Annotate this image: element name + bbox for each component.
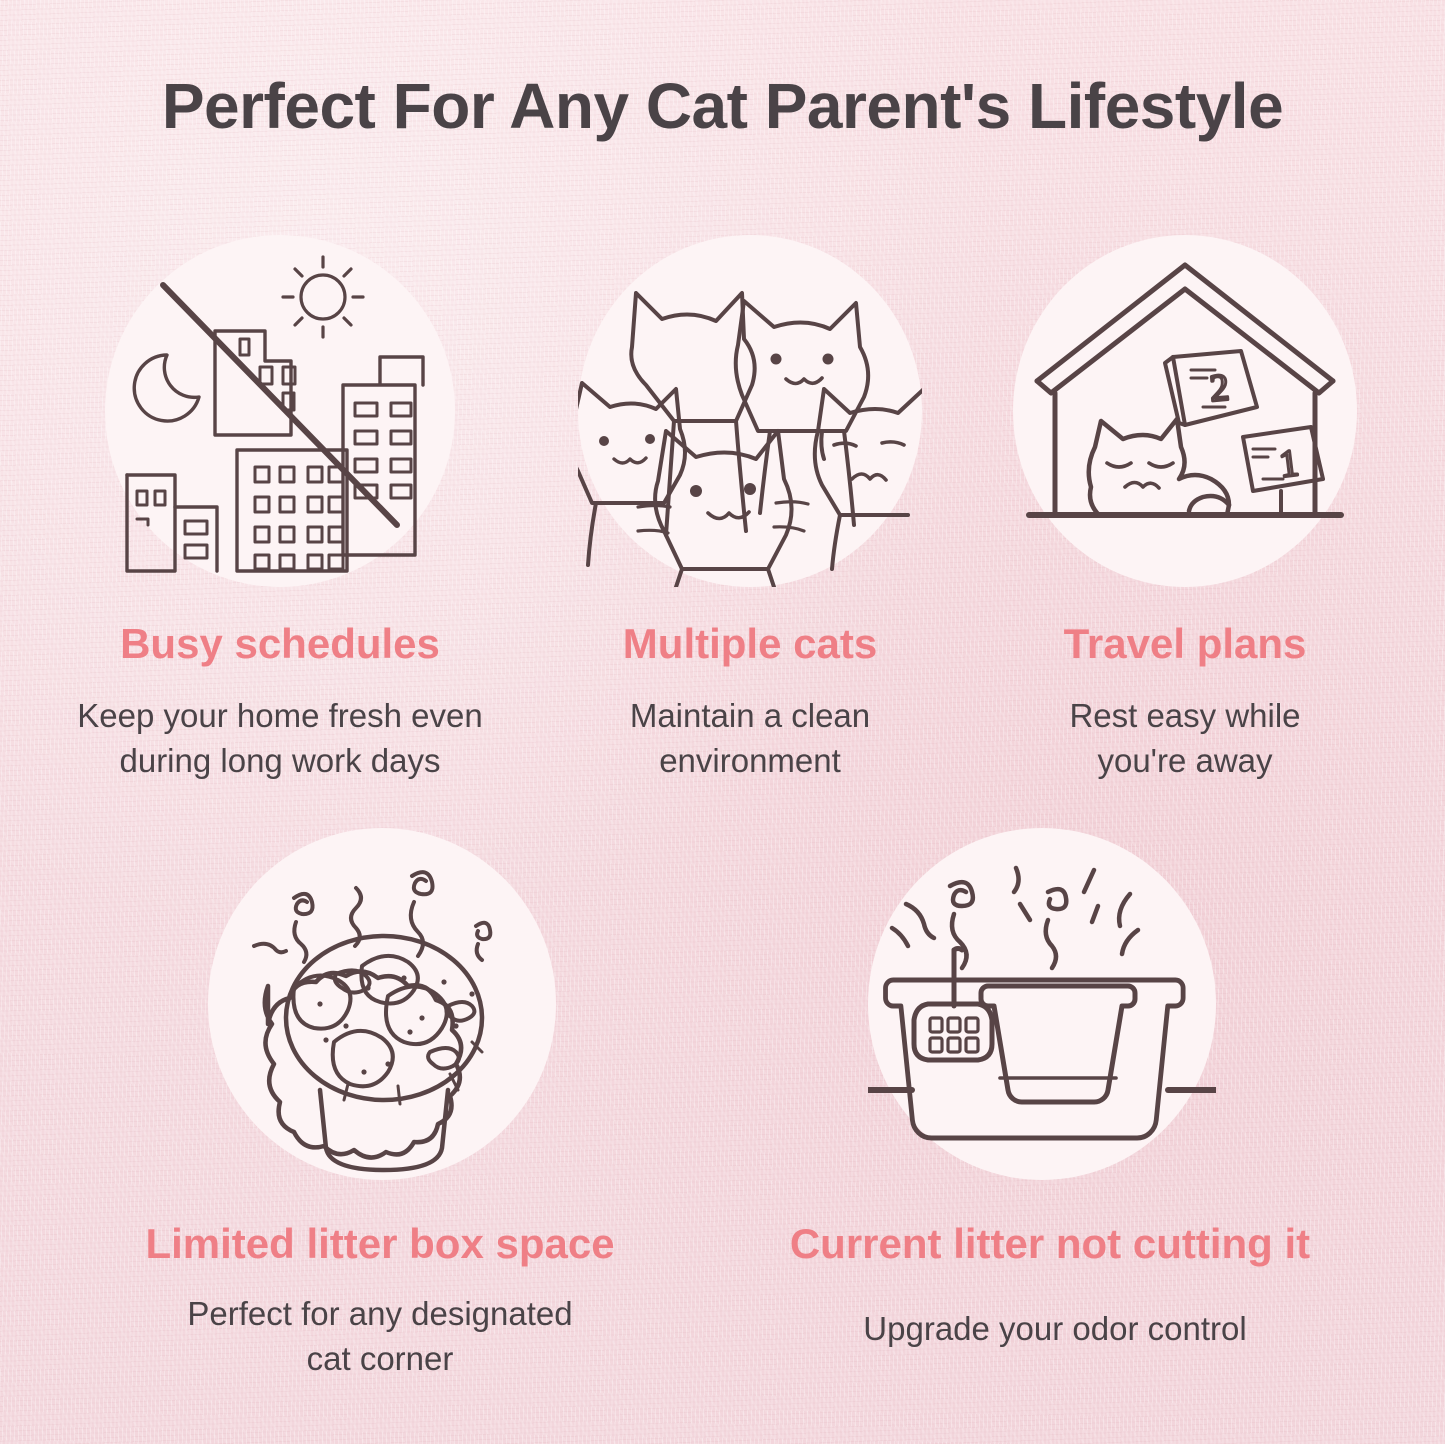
feature-description-busy-schedules: Keep your home fresh even during long wo… [40, 694, 520, 783]
multiple-cats-icon [578, 235, 922, 587]
calendar-number-1: 1 [1277, 442, 1301, 486]
litter-box-scoop-odor-icon [868, 828, 1216, 1180]
litter-waste-bin-odor-icon [208, 828, 556, 1180]
feature-description-current-litter-not-cutting-it: Upgrade your odor control [735, 1307, 1375, 1352]
house-sleeping-cat-calendar-icon: 2 1 [1013, 235, 1357, 587]
feature-label-limited-litter-box-space: Limited litter box space [60, 1222, 700, 1266]
feature-description-travel-plans: Rest easy while you're away [975, 694, 1395, 783]
city-day-night-icon [105, 235, 455, 587]
feature-description-multiple-cats: Maintain a clean environment [545, 694, 955, 783]
feature-description-limited-litter-box-space: Perfect for any designated cat corner [90, 1292, 670, 1381]
page-title: Perfect For Any Cat Parent's Lifestyle [0, 74, 1445, 138]
feature-label-current-litter-not-cutting-it: Current litter not cutting it [715, 1222, 1385, 1266]
feature-label-multiple-cats: Multiple cats [540, 622, 960, 666]
feature-label-travel-plans: Travel plans [970, 622, 1400, 666]
feature-label-busy-schedules: Busy schedules [50, 622, 510, 666]
calendar-number-2: 2 [1208, 366, 1231, 409]
